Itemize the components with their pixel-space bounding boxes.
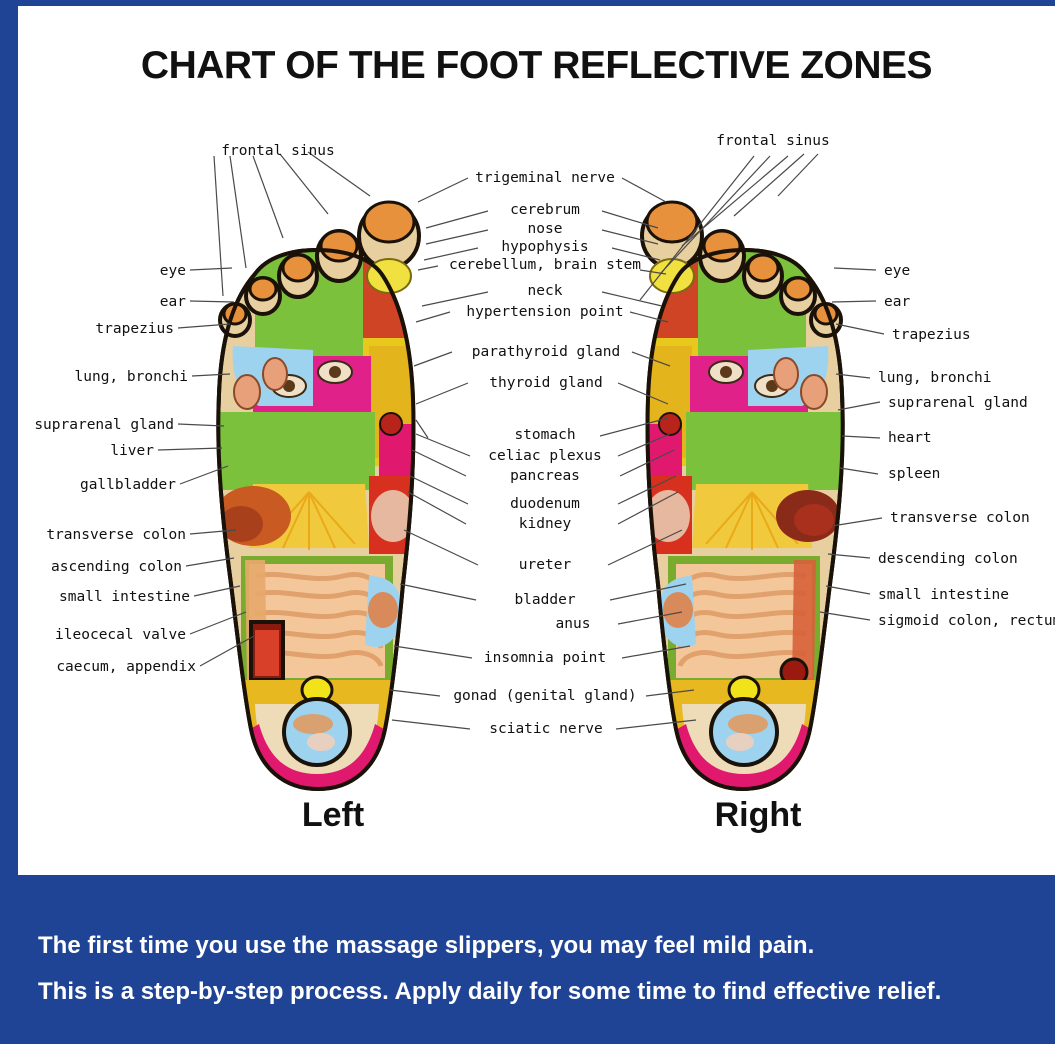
label-neck: neck xyxy=(462,284,628,299)
label-nose: nose xyxy=(462,222,628,237)
left-foot-caption: Left xyxy=(273,796,393,835)
label-cerebellum-brain-stem: cerebellum, brain stem xyxy=(421,258,669,273)
label-left-ear: ear xyxy=(18,295,186,310)
left-foot-diagram xyxy=(193,124,443,809)
label-trigeminal-nerve: trigeminal nerve xyxy=(452,171,638,186)
label-bladder: bladder xyxy=(462,593,628,608)
label-left-lung-bronchi: lung, bronchi xyxy=(18,370,188,385)
poster-root: CHART OF THE FOOT REFLECTIVE ZONES xyxy=(0,0,1055,1044)
banner-line-2: This is a step-by-step process. Apply da… xyxy=(38,978,941,1006)
instruction-banner: The first time you use the massage slipp… xyxy=(0,875,1055,1044)
label-frontal-sinus-left: frontal sinus xyxy=(203,144,353,159)
label-left-eye: eye xyxy=(18,264,186,279)
label-sciatic-nerve: sciatic nerve xyxy=(458,722,634,737)
label-right-ear: ear xyxy=(884,295,910,310)
label-anus: anus xyxy=(518,617,628,632)
label-left-ileocecal-valve: ileocecal valve xyxy=(18,628,186,643)
chart-panel: CHART OF THE FOOT REFLECTIVE ZONES xyxy=(18,6,1055,875)
label-frontal-sinus-right: frontal sinus xyxy=(698,134,848,149)
label-right-suprarenal-gland: suprarenal gland xyxy=(888,396,1028,411)
label-right-small-intestine: small intestine xyxy=(878,588,1009,603)
label-hypophysis: hypophysis xyxy=(462,240,628,255)
label-right-trapezius: trapezius xyxy=(892,328,971,343)
label-left-liver: liver xyxy=(18,444,154,459)
label-left-ascending-colon: ascending colon xyxy=(18,560,182,575)
label-parathyroid-gland: parathyroid gland xyxy=(446,345,646,360)
label-right-descending-colon: descending colon xyxy=(878,552,1018,567)
label-stomach: stomach xyxy=(462,428,628,443)
label-left-gallbladder: gallbladder xyxy=(18,478,176,493)
label-right-sigmoid-colon-rectum: sigmoid colon, rectum xyxy=(878,614,1055,629)
label-right-lung-bronchi: lung, bronchi xyxy=(878,371,992,386)
label-gonad-genital-gland: gonad (genital gland) xyxy=(432,689,658,704)
label-left-trapezius: trapezius xyxy=(18,322,174,337)
label-right-transverse-colon: transverse colon xyxy=(890,511,1030,526)
label-insomnia-point: insomnia point xyxy=(455,651,635,666)
label-left-small-intestine: small intestine xyxy=(18,590,190,605)
right-foot-caption: Right xyxy=(693,796,823,835)
label-kidney: kidney xyxy=(462,517,628,532)
label-left-caecum-appendix: caecum, appendix xyxy=(18,660,196,675)
label-left-suprarenal-gland: suprarenal gland xyxy=(18,418,174,433)
label-right-spleen: spleen xyxy=(888,467,940,482)
label-hypertension-point: hypertension point xyxy=(442,305,648,320)
label-duodenum: duodenum xyxy=(462,497,628,512)
banner-line-1: The first time you use the massage slipp… xyxy=(38,932,814,960)
label-right-eye: eye xyxy=(884,264,910,279)
label-thyroid-gland: thyroid gland xyxy=(458,376,634,391)
label-ureter: ureter xyxy=(462,558,628,573)
page-title: CHART OF THE FOOT REFLECTIVE ZONES xyxy=(18,44,1055,88)
right-foot-diagram xyxy=(618,124,868,809)
label-celiac-plexus: celiac plexus xyxy=(452,449,638,464)
label-right-heart: heart xyxy=(888,431,932,446)
label-left-transverse-colon: transverse colon xyxy=(18,528,186,543)
label-pancreas: pancreas xyxy=(462,469,628,484)
label-cerebrum: cerebrum xyxy=(462,203,628,218)
